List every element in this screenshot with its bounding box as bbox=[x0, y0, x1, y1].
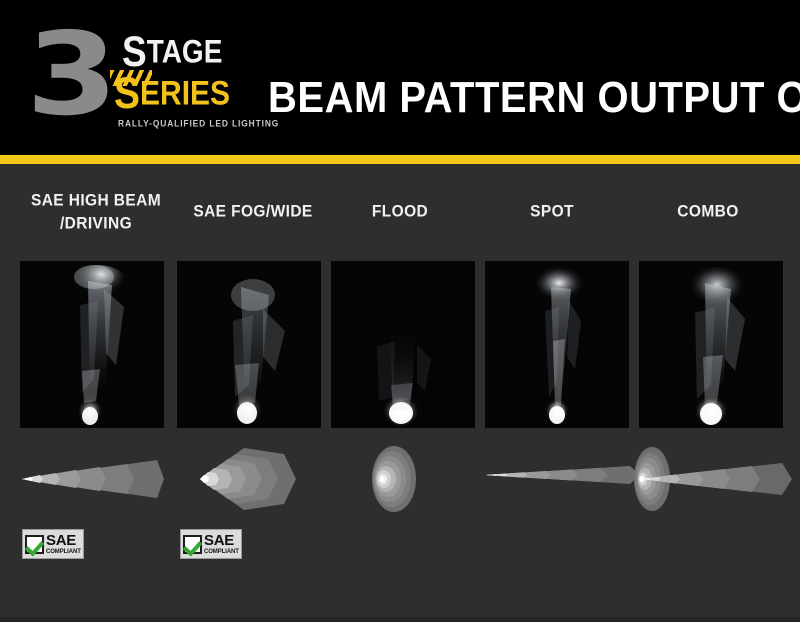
beam-diagram-flood bbox=[352, 436, 448, 522]
photo-spot-graphic bbox=[485, 261, 629, 428]
column-label-spot: SPOT bbox=[478, 200, 626, 223]
column-label-combo: COMBO bbox=[630, 200, 786, 223]
column-label-sae-high-beam-driving: SAE HIGH BEAM /DRIVING bbox=[12, 189, 180, 235]
header-bar: 3 STAGE SERIES RALLY-QUALIFIED LED LIGHT… bbox=[0, 0, 800, 157]
beam-diagram-spot bbox=[480, 446, 650, 502]
stage-series-logo: 3 STAGE SERIES RALLY-QUALIFIED LED LIGHT… bbox=[26, 24, 241, 134]
column-label-flood: FLOOD bbox=[328, 200, 472, 223]
sae-badge-title: SAE bbox=[46, 533, 81, 548]
yellow-divider bbox=[0, 155, 800, 164]
beam-diagram-fog-wide bbox=[178, 440, 328, 518]
beam-diagram-flood-graphic bbox=[352, 436, 448, 522]
beam-photo-high-beam-driving bbox=[20, 261, 164, 428]
page-title: BEAM PATTERN OUTPUT OPTIONS bbox=[268, 74, 788, 126]
beam-pattern-infographic: 3 STAGE SERIES RALLY-QUALIFIED LED LIGHT… bbox=[0, 0, 800, 622]
beam-diagram-combo bbox=[630, 436, 798, 522]
beam-diagram-fog-wide-graphic bbox=[178, 440, 328, 518]
beam-photo-fog-wide bbox=[177, 261, 321, 428]
check-icon bbox=[25, 535, 44, 554]
beam-photo-spot bbox=[485, 261, 629, 428]
logo-stage-word: STAGE bbox=[122, 36, 222, 68]
sae-compliant-badge-fog-wide: SAE COMPLIANT bbox=[180, 529, 242, 559]
photo-fog-wide-graphic bbox=[177, 261, 321, 428]
sae-badge-subtitle: COMPLIANT bbox=[46, 549, 81, 555]
content-area: SAE HIGH BEAM /DRIVING SAE FOG/WIDE FLOO… bbox=[0, 164, 800, 622]
beam-photo-combo bbox=[639, 261, 783, 428]
bottom-edge bbox=[0, 617, 800, 622]
beam-diagram-high-beam-driving bbox=[12, 444, 172, 514]
photo-flood-graphic bbox=[331, 261, 475, 428]
photo-high-beam-driving-graphic bbox=[20, 261, 164, 428]
sae-badge-subtitle: COMPLIANT bbox=[204, 549, 239, 555]
photo-combo-graphic bbox=[639, 261, 783, 428]
sae-badge-title: SAE bbox=[204, 533, 239, 548]
column-label-sae-fog-wide: SAE FOG/WIDE bbox=[174, 200, 332, 223]
beam-diagram-combo-graphic bbox=[630, 436, 798, 522]
sae-compliant-badge-high-beam-driving: SAE COMPLIANT bbox=[22, 529, 84, 559]
logo-wordmark: STAGE SERIES RALLY-QUALIFIED LED LIGHTIN… bbox=[104, 36, 254, 136]
logo-diagonal-stripes-icon bbox=[110, 70, 152, 86]
beam-photo-flood bbox=[331, 261, 475, 428]
logo-tagline: RALLY-QUALIFIED LED LIGHTING bbox=[118, 118, 279, 129]
beam-diagram-high-beam-driving-graphic bbox=[12, 444, 172, 514]
check-icon bbox=[183, 535, 202, 554]
beam-diagram-spot-graphic bbox=[480, 446, 650, 502]
